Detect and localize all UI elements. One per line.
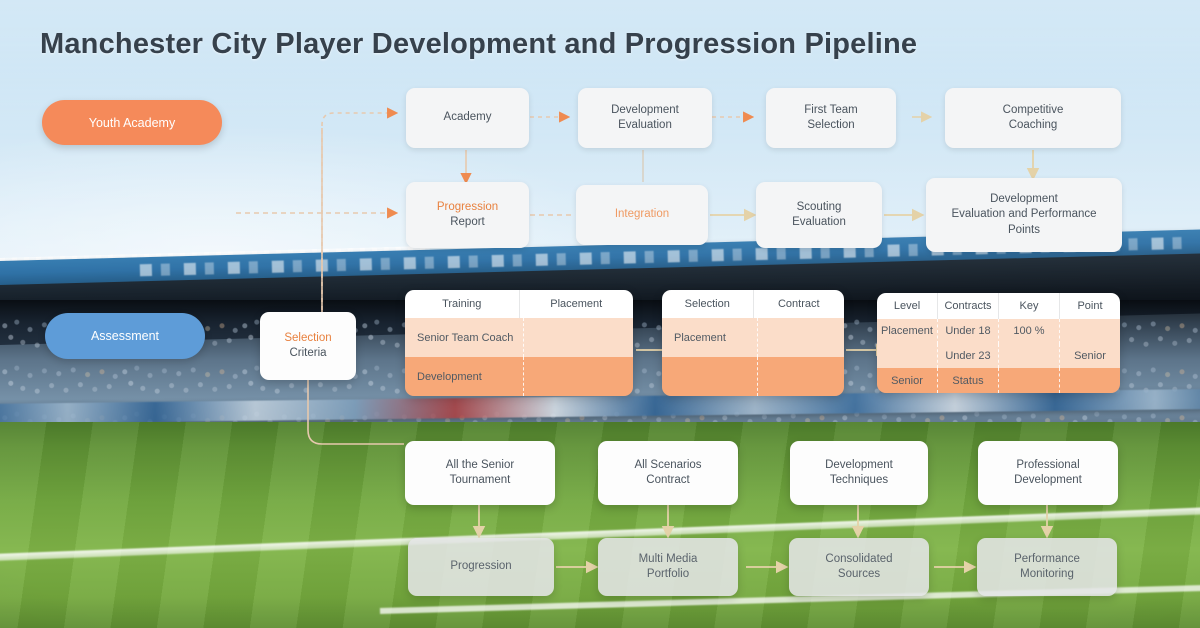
column-header: Key [998,293,1059,319]
node-line-2: Evaluation [792,215,846,230]
table-1[interactable]: Training Placement Senior Team Coach Dev… [405,290,633,396]
table-row: Training Placement [405,290,633,318]
table-cell: Senior [877,368,937,393]
node-scouting-evaluation[interactable]: Scouting Evaluation [756,182,882,248]
node-line-2: Criteria [289,346,326,361]
column-header: Contract [753,290,845,318]
node-line-2: Evaluation [618,118,672,133]
table-3[interactable]: Level Contracts Key Point Placement Unde… [877,293,1120,393]
table-cell [1059,319,1120,344]
node-progression-label: Progression [450,559,511,574]
node-first-team-selection[interactable]: First Team Selection [766,88,896,148]
table-row[interactable]: Under 23 Senior [877,344,1120,369]
column-header: Point [1059,293,1120,319]
node-competitive-coaching[interactable]: Competitive Coaching [945,88,1121,148]
table-row[interactable]: Placement Under 18 100 % [877,319,1120,344]
node-line-1: All Scenarios [634,458,701,473]
table-cell: Senior Team Coach [405,318,523,357]
table-cell: Senior [1059,344,1120,369]
node-development-techniques[interactable]: Development Techniques [790,441,928,505]
table-cell [523,357,634,396]
table-cell: Status [937,368,998,393]
node-line-3: Points [1008,223,1040,238]
column-header: Level [877,293,937,319]
node-line-1: Development [611,103,679,118]
assessment-pill-label: Assessment [91,329,159,343]
table-cell [998,368,1059,393]
node-line-1: First Team [804,103,857,118]
assessment-pill[interactable]: Assessment [45,313,205,359]
table-row[interactable]: Placement [662,318,844,357]
column-header: Placement [519,290,634,318]
node-all-scenarios-contract[interactable]: All Scenarios Contract [598,441,738,505]
table-cell: 100 % [998,319,1059,344]
table-row[interactable]: Development [405,357,633,396]
youth-academy-pill-label: Youth Academy [89,116,175,130]
node-line-2: Portfolio [647,567,689,582]
node-academy[interactable]: Academy [406,88,529,148]
node-line-2: Selection [807,118,854,133]
node-line-1: Consolidated [825,552,892,567]
node-line-2: Sources [838,567,880,582]
node-selection-criteria[interactable]: Selection Criteria [260,312,356,380]
table-cell: Under 18 [937,319,998,344]
node-line-1: Professional [1016,458,1079,473]
node-development-evaluation-points[interactable]: Development Evaluation and Performance P… [926,178,1122,252]
column-header: Contracts [937,293,998,319]
table-cell: Development [405,357,523,396]
column-header: Training [405,290,519,318]
node-integration[interactable]: Integration [576,185,708,245]
node-line-2: Contract [646,473,689,488]
node-line-1: All the Senior [446,458,514,473]
table-row[interactable]: Senior Team Coach [405,318,633,357]
node-line-1: Development [990,192,1058,207]
node-development-evaluation[interactable]: Development Evaluation [578,88,712,148]
node-line-2: Coaching [1009,118,1058,133]
node-line-2: Evaluation and Performance [951,207,1096,222]
node-academy-label: Academy [444,110,492,125]
node-progression[interactable]: Progression [408,538,554,596]
node-progression-report[interactable]: Progression Report [406,182,529,248]
node-line-1: Scouting [797,200,842,215]
table-cell [998,344,1059,369]
table-cell: Placement [877,319,937,344]
table-2[interactable]: Selection Contract Placement [662,290,844,396]
table-cell [757,318,845,357]
node-line-1: Multi Media [639,552,698,567]
node-consolidated-sources[interactable]: Consolidated Sources [789,538,929,596]
table-cell [757,357,845,396]
node-line-1: Performance [1014,552,1080,567]
node-professional-development[interactable]: Professional Development [978,441,1118,505]
node-line-1: Progression [437,200,498,215]
node-all-the-senior-tournament[interactable]: All the Senior Tournament [405,441,555,505]
table-row: Selection Contract [662,290,844,318]
column-header: Selection [662,290,753,318]
table-cell [1059,368,1120,393]
table-row[interactable] [662,357,844,396]
node-multi-media-portfolio[interactable]: Multi Media Portfolio [598,538,738,596]
node-integration-label: Integration [615,207,669,222]
node-performance-monitoring[interactable]: Performance Monitoring [977,538,1117,596]
table-row: Level Contracts Key Point [877,293,1120,319]
node-line-2: Development [1014,473,1082,488]
youth-academy-pill[interactable]: Youth Academy [42,100,222,145]
page-title: Manchester City Player Development and P… [40,28,917,61]
table-cell: Placement [662,318,757,357]
node-line-1: Development [825,458,893,473]
table-row[interactable]: Senior Status [877,368,1120,393]
node-line-1: Competitive [1003,103,1064,118]
table-cell [662,357,757,396]
node-line-1: Selection [284,331,331,346]
node-line-2: Techniques [830,473,888,488]
table-cell [523,318,634,357]
table-cell: Under 23 [937,344,998,369]
table-cell [877,344,937,369]
node-line-2: Report [450,215,485,230]
node-line-2: Monitoring [1020,567,1074,582]
node-line-2: Tournament [450,473,511,488]
